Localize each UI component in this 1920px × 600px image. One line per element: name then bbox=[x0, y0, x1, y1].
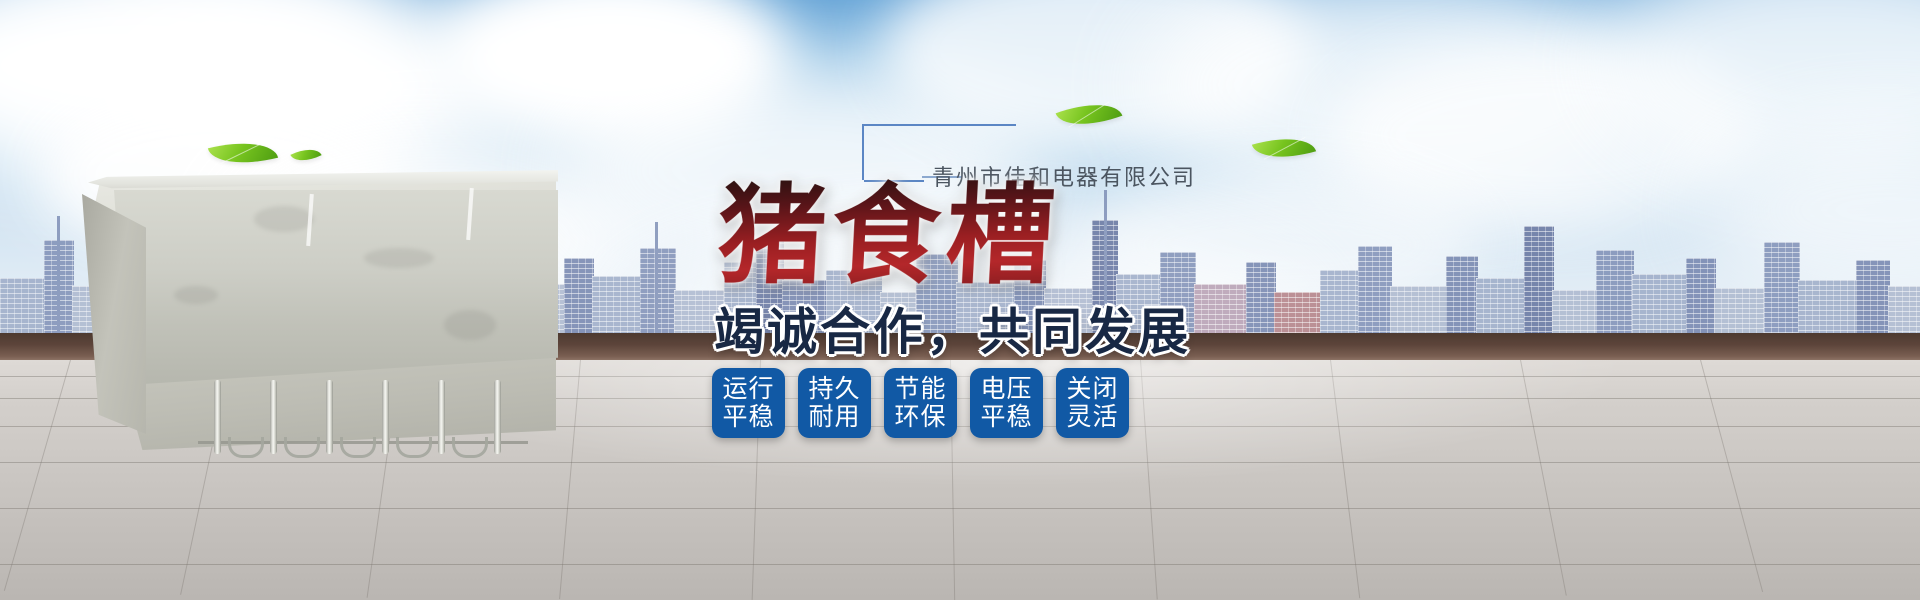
product-image-pig-feeding-trough bbox=[78, 160, 578, 460]
promo-banner: 青州市佳和电器有限公司 猪食槽 竭诚合作，共同发展 运行 平稳 持久 耐用 节能… bbox=[0, 0, 1920, 600]
feature-tag-line2: 平稳 bbox=[980, 403, 1032, 432]
feature-tag-line2: 平稳 bbox=[722, 403, 774, 432]
feature-tag-line1: 关闭 bbox=[1066, 375, 1118, 404]
banner-text-block: 青州市佳和电器有限公司 猪食槽 竭诚合作，共同发展 运行 平稳 持久 耐用 节能… bbox=[700, 100, 1400, 480]
headline-product-title: 猪食槽 bbox=[715, 178, 1063, 295]
feature-tag-list: 运行 平稳 持久 耐用 节能 环保 电压 平稳 关闭 灵活 bbox=[712, 368, 1129, 438]
feature-tag[interactable]: 节能 环保 bbox=[884, 368, 957, 438]
feature-tag[interactable]: 持久 耐用 bbox=[798, 368, 871, 438]
feature-tag-line1: 运行 bbox=[722, 375, 774, 404]
feature-tag-line2: 耐用 bbox=[808, 403, 860, 432]
feature-tag-line1: 节能 bbox=[894, 375, 946, 404]
feature-tag[interactable]: 电压 平稳 bbox=[970, 368, 1043, 438]
subheadline-slogan: 竭诚合作，共同发展 bbox=[714, 292, 1191, 364]
feature-tag[interactable]: 关闭 灵活 bbox=[1056, 368, 1129, 438]
feature-tag[interactable]: 运行 平稳 bbox=[712, 368, 785, 438]
feature-tag-line2: 灵活 bbox=[1066, 403, 1118, 432]
feature-tag-line1: 持久 bbox=[808, 375, 860, 404]
feature-tag-line2: 环保 bbox=[894, 403, 946, 432]
feature-tag-line1: 电压 bbox=[980, 375, 1032, 404]
